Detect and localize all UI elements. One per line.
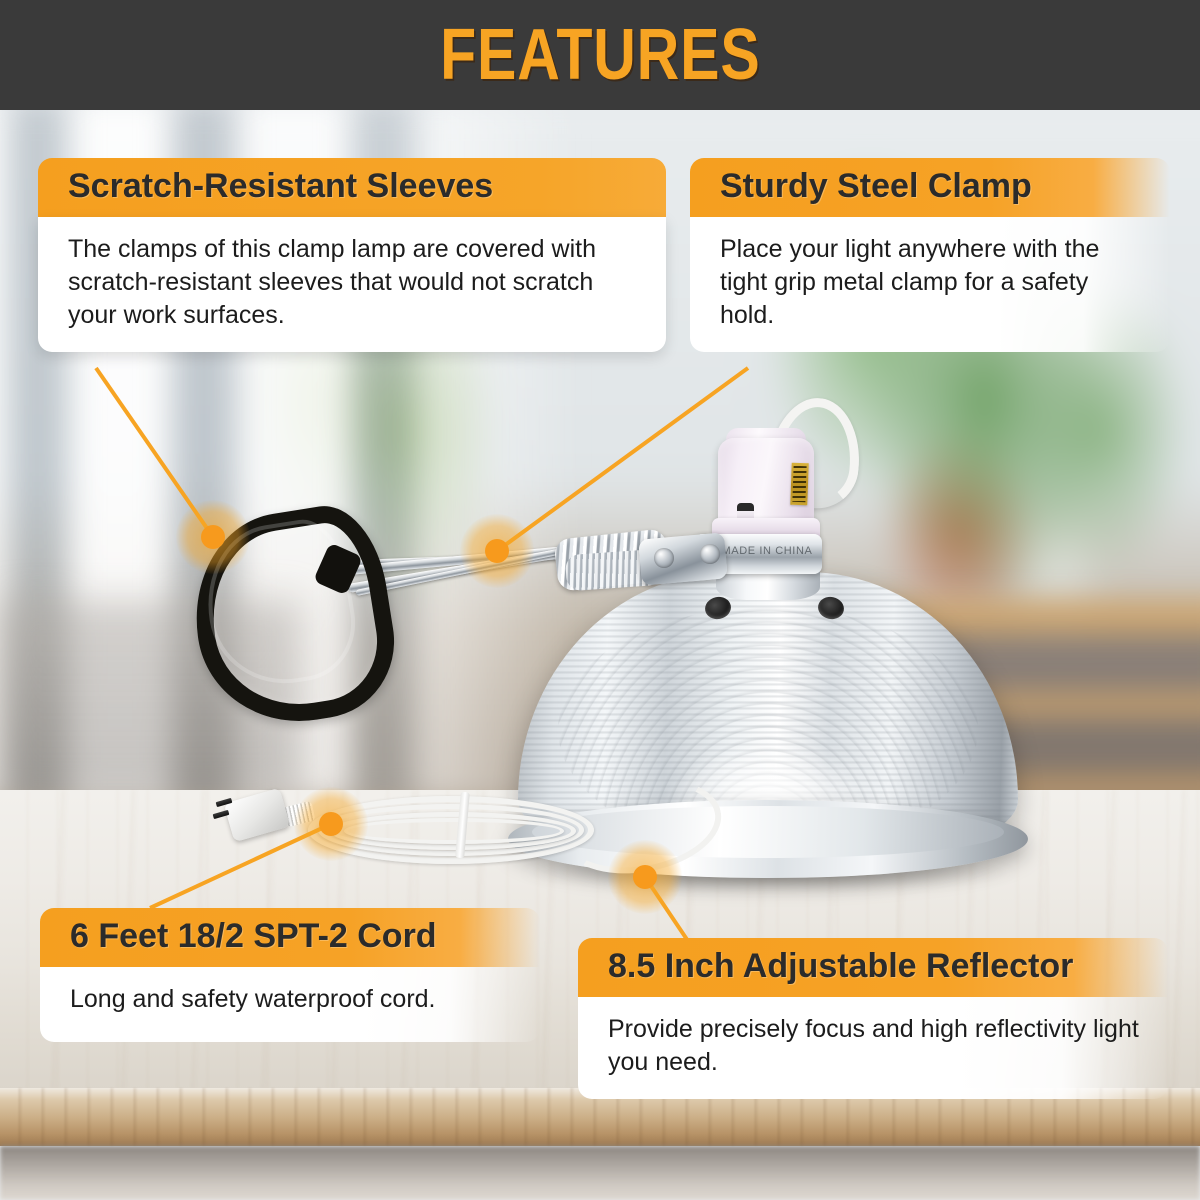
- features-title-bar: FEATURES: [0, 0, 1200, 110]
- feature-card-text: The clamps of this clamp lamp are covere…: [68, 233, 642, 332]
- feature-card-cord[interactable]: 6 Feet 18/2 SPT-2 Cord Long and safety w…: [40, 908, 540, 1042]
- feature-card-body: Place your light anywhere with the tight…: [690, 217, 1170, 352]
- callout-line-clamp: [497, 368, 748, 551]
- feature-card-title: Sturdy Steel Clamp: [690, 158, 1170, 217]
- feature-card-text: Place your light anywhere with the tight…: [720, 233, 1146, 332]
- feature-infographic: MADE IN CHINA: [0, 0, 1200, 1200]
- feature-card-title: Scratch-Resistant Sleeves: [38, 158, 666, 217]
- feature-card-adjustable-reflector[interactable]: 8.5 Inch Adjustable Reflector Provide pr…: [578, 938, 1168, 1099]
- feature-card-text: Provide precisely focus and high reflect…: [608, 1013, 1144, 1079]
- feature-card-text: Long and safety waterproof cord.: [70, 983, 516, 1016]
- feature-card-title: 6 Feet 18/2 SPT-2 Cord: [40, 908, 540, 967]
- feature-card-body: The clamps of this clamp lamp are covere…: [38, 217, 666, 352]
- callout-dot-core: [633, 865, 657, 889]
- feature-card-sturdy-steel-clamp[interactable]: Sturdy Steel Clamp Place your light anyw…: [690, 158, 1170, 352]
- feature-card-body: Provide precisely focus and high reflect…: [578, 997, 1168, 1099]
- feature-card-scratch-resistant-sleeves[interactable]: Scratch-Resistant Sleeves The clamps of …: [38, 158, 666, 352]
- callout-dot-core: [201, 525, 225, 549]
- feature-card-body: Long and safety waterproof cord.: [40, 967, 540, 1042]
- feature-card-title: 8.5 Inch Adjustable Reflector: [578, 938, 1168, 997]
- page-title: FEATURES: [440, 19, 760, 91]
- callout-dot-core: [485, 539, 509, 563]
- callout-dot-core: [319, 812, 343, 836]
